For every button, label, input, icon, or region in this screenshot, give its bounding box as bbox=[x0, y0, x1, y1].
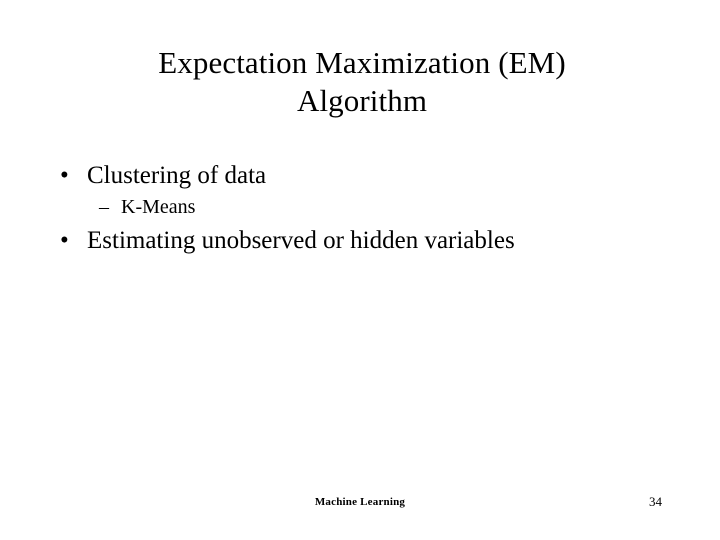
slide: Expectation Maximization (EM) Algorithm … bbox=[0, 0, 720, 540]
title-line-1: Expectation Maximization (EM) bbox=[158, 45, 566, 80]
slide-footer: Machine Learning 34 bbox=[0, 494, 720, 516]
bullet-item-estimating: • Estimating unobserved or hidden variab… bbox=[0, 225, 720, 256]
bullet-item-clustering: • Clustering of data bbox=[0, 160, 720, 191]
slide-body: • Clustering of data – K-Means • Estimat… bbox=[0, 160, 720, 258]
sub-bullet-item-kmeans: – K-Means bbox=[0, 193, 720, 221]
bullet-dot-icon: • bbox=[60, 160, 87, 191]
bullet-text: Clustering of data bbox=[87, 160, 720, 191]
page-title: Expectation Maximization (EM) Algorithm bbox=[46, 44, 678, 120]
title-line-2: Algorithm bbox=[297, 83, 427, 118]
bullet-dash-icon: – bbox=[99, 193, 121, 221]
sub-bullet-text: K-Means bbox=[121, 193, 720, 221]
footer-label: Machine Learning bbox=[0, 494, 720, 510]
page-number: 34 bbox=[649, 493, 662, 511]
bullet-dot-icon: • bbox=[60, 225, 87, 256]
bullet-text: Estimating unobserved or hidden variable… bbox=[87, 225, 720, 256]
